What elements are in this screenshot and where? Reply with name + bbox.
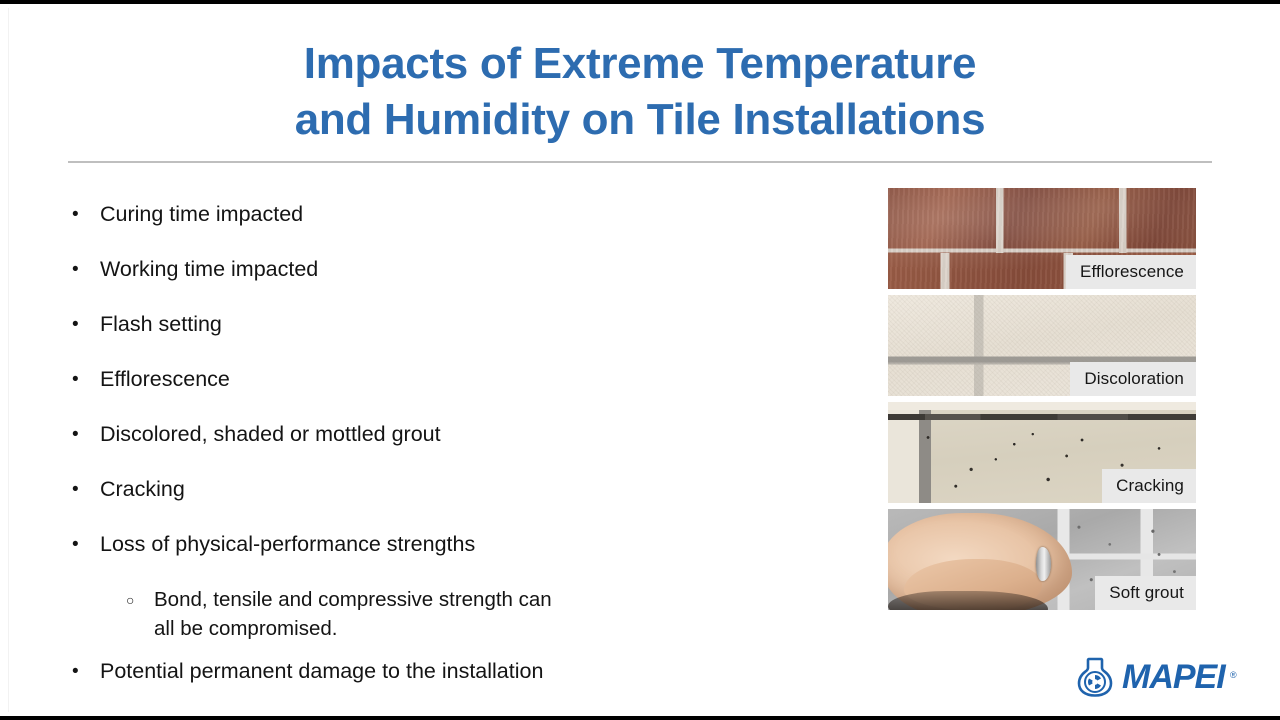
- photo-caption: Soft grout: [1095, 576, 1196, 610]
- list-item-label: Cracking: [100, 475, 772, 504]
- photo-discoloration: Discoloration: [888, 295, 1196, 396]
- mapei-flask-icon: [1075, 656, 1115, 698]
- bullet-marker-icon: •: [72, 657, 100, 686]
- sub-list-item: ○ Bond, tensile and compressive strength…: [72, 585, 772, 643]
- title-divider: [68, 161, 1212, 163]
- mapei-wordmark: MAPEI ®: [1122, 660, 1225, 694]
- sub-list-item-label: Bond, tensile and compressive strength c…: [154, 585, 772, 643]
- bullet-marker-icon: •: [72, 200, 100, 229]
- photo-gallery: Efflorescence Discoloration Cracking: [888, 188, 1196, 616]
- list-item-label: Curing time impacted: [100, 200, 772, 229]
- sub-bullet-marker-icon: ○: [126, 585, 154, 616]
- bullet-marker-icon: •: [72, 255, 100, 284]
- list-item: • Loss of physical-performance strengths: [72, 530, 772, 572]
- bullet-marker-icon: •: [72, 365, 100, 394]
- list-item: • Working time impacted: [72, 255, 772, 297]
- registered-trademark-icon: ®: [1230, 658, 1236, 692]
- list-item: • Cracking: [72, 475, 772, 517]
- photo-caption: Discoloration: [1070, 362, 1196, 396]
- photo-soft-grout: Soft grout: [888, 509, 1196, 610]
- list-item-label: Loss of physical-performance strengths: [100, 530, 772, 559]
- page-title-line-2: and Humidity on Tile Installations: [64, 92, 1216, 148]
- photo-caption: Cracking: [1102, 469, 1196, 503]
- list-item-label: Potential permanent damage to the instal…: [100, 657, 772, 686]
- list-item: • Potential permanent damage to the inst…: [72, 657, 772, 699]
- bullet-marker-icon: •: [72, 475, 100, 504]
- photo-caption: Efflorescence: [1066, 255, 1196, 289]
- bullet-list: • Curing time impacted • Working time im…: [72, 200, 772, 712]
- bullet-marker-icon: •: [72, 310, 100, 339]
- list-item-label: Discolored, shaded or mottled grout: [100, 420, 772, 449]
- photo-cracking: Cracking: [888, 402, 1196, 503]
- list-item: • Efflorescence: [72, 365, 772, 407]
- photo-efflorescence: Efflorescence: [888, 188, 1196, 289]
- list-item-label: Working time impacted: [100, 255, 772, 284]
- presentation-slide: Impacts of Extreme Temperature and Humid…: [0, 4, 1280, 716]
- page-title-line-1: Impacts of Extreme Temperature: [64, 36, 1216, 92]
- bullet-marker-icon: •: [72, 530, 100, 559]
- list-item: • Discolored, shaded or mottled grout: [72, 420, 772, 462]
- list-item-label: Efflorescence: [100, 365, 772, 394]
- slide-left-edge: [8, 8, 9, 712]
- list-item: • Curing time impacted: [72, 200, 772, 242]
- list-item-label: Flash setting: [100, 310, 772, 339]
- mapei-wordmark-text: MAPEI: [1122, 658, 1225, 696]
- video-frame: Impacts of Extreme Temperature and Humid…: [0, 0, 1280, 720]
- list-item: • Flash setting: [72, 310, 772, 352]
- mapei-logo: MAPEI ®: [1075, 652, 1255, 702]
- bullet-marker-icon: •: [72, 420, 100, 449]
- page-title: Impacts of Extreme Temperature and Humid…: [64, 36, 1216, 148]
